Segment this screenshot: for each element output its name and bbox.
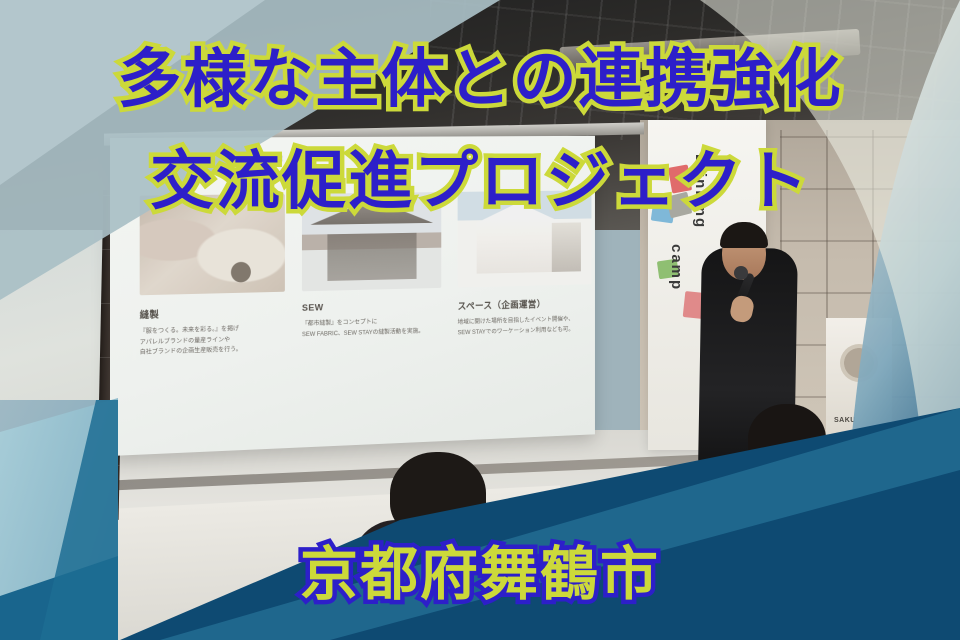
video-frame: 主体像 縫製 『服をつくる。未来を彩る。』を掲げ アパレルブランドの量産ラインや… xyxy=(0,0,960,640)
footer-location-text: 京都府舞鶴市 xyxy=(300,527,660,611)
microphone-head xyxy=(734,266,748,280)
headline-line-2: 交流促進プロジェクト xyxy=(0,130,960,222)
audience-member-head xyxy=(390,452,486,538)
audience-member-head xyxy=(748,404,826,476)
headline-line-1: 多様な主体との連携強化 xyxy=(0,28,960,120)
headline-line-1-text: 多様な主体との連携強化 xyxy=(117,28,842,120)
headline-line-2-text: 交流促進プロジェクト xyxy=(150,130,810,222)
caption-title: SEW xyxy=(302,299,441,313)
caption-body: 『服をつくる。未来を彩る。』を掲げ アパレルブランドの量産ラインや 自社ブランド… xyxy=(140,323,285,359)
podium-label: SAKU xyxy=(834,417,856,424)
banner-text-camp: camp xyxy=(668,244,685,291)
caption-body: 地域に開けた場所を目指したイベント開催や、 SEW STAYでのワーケーション利… xyxy=(458,314,592,338)
caption-title: スペース（企画運営） xyxy=(458,295,592,312)
caption-body: 『都市縫製』をコンセプトに SEW FABRIC、SEW STAYの縫製活動を実… xyxy=(302,316,441,340)
caption-title: 縫製 xyxy=(140,303,285,321)
footer-location: 京都府舞鶴市 xyxy=(0,527,960,611)
podium-sign: SAKU xyxy=(826,318,892,436)
